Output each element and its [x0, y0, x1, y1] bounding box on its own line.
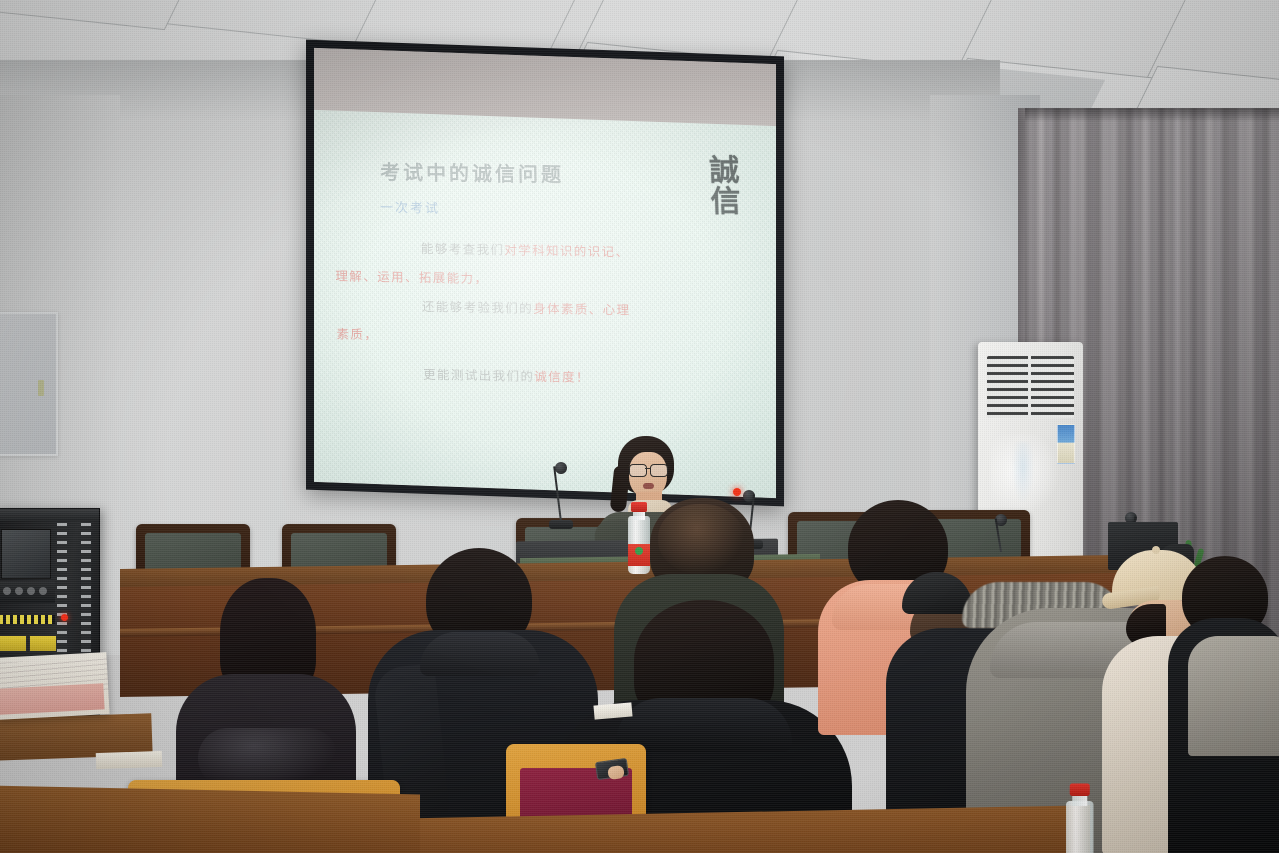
- wall-utility-panel: [0, 312, 58, 456]
- mic-active-indicator-icon: [733, 488, 741, 496]
- panel-latch-icon: [38, 380, 44, 396]
- ac-reflection-secondary: [1012, 442, 1034, 504]
- lecture-hall-photo: 考试中的诚信问题 誠信 一次考试 能够考查我们对学科知识的识记、 理解、运用、拓…: [0, 0, 1279, 853]
- audience-desk-left: [0, 785, 420, 853]
- book-on-table: [96, 751, 163, 769]
- rack-lcd-right: [29, 635, 57, 652]
- rack-monitor-screen: [1, 529, 51, 579]
- screen-surface: 考试中的诚信问题 誠信 一次考试 能够考查我们对学科知识的识记、 理解、运用、拓…: [314, 48, 776, 498]
- rack-lcd-left: [0, 635, 27, 652]
- rack-top-panel: [0, 509, 99, 521]
- cap-button-icon: [1152, 546, 1160, 554]
- rack-power-indicator-icon: [61, 614, 68, 621]
- rack-led-strip: [0, 615, 55, 624]
- red-folder-stack: [0, 683, 105, 715]
- jacket-sheen: [198, 728, 338, 788]
- curtain-rod-shadow: [1025, 108, 1279, 122]
- bottle-cap-icon: [1070, 784, 1090, 797]
- hair-highlight: [658, 504, 744, 574]
- projection-screen: 考试中的诚信问题 誠信 一次考试 能够考查我们对学科知识的识记、 理解、运用、拓…: [306, 40, 784, 507]
- jacket-hood: [420, 632, 540, 676]
- presenter-mouth: [643, 483, 654, 489]
- slide-vignette: [314, 110, 776, 498]
- eyeglasses-icon: [628, 464, 668, 475]
- ac-grille-divider: [1028, 356, 1031, 418]
- projected-slide: 考试中的诚信问题 誠信 一次考试 能够考查我们对学科知识的识记、 理解、运用、拓…: [314, 110, 776, 498]
- student-gray-sleeve: [1188, 636, 1279, 756]
- rack-knob-row: [0, 581, 55, 603]
